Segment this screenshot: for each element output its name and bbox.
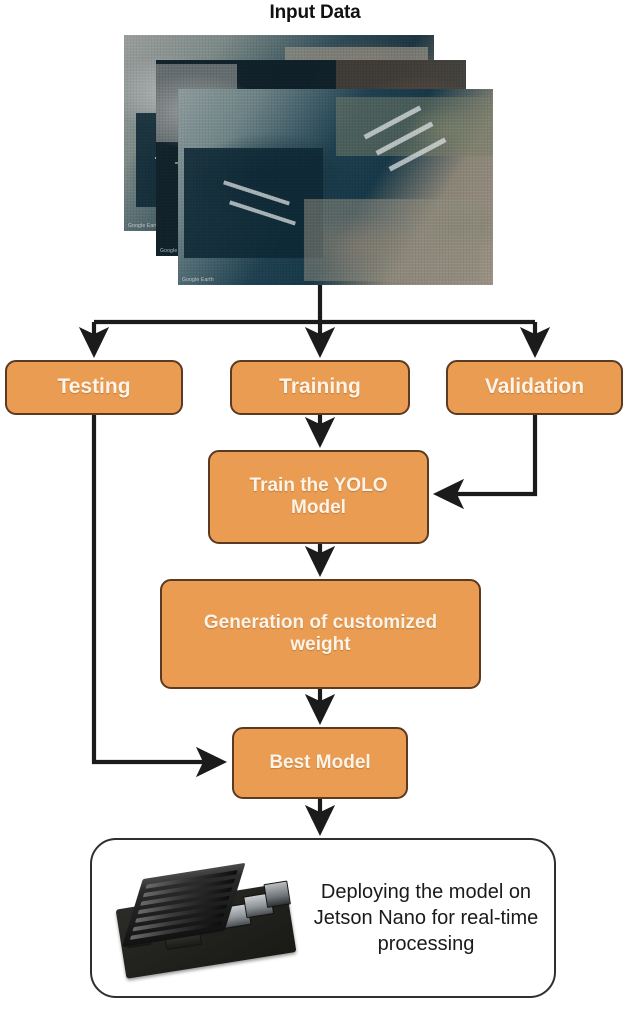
flowchart-canvas: Input Data Google Earth Google Earth: [0, 0, 630, 1009]
photo-watermark: Google Earth: [182, 277, 214, 283]
node-deploy-jetson-nano[interactable]: Deploying the model on Jetson Nano for r…: [90, 838, 556, 998]
node-validation[interactable]: Validation: [446, 360, 623, 415]
photo-grain: [178, 89, 493, 285]
node-generation-of-customized-weight[interactable]: Generation of customized weight: [160, 579, 481, 689]
board-inner: [112, 857, 297, 979]
ethernet-port: [263, 881, 290, 908]
node-testing[interactable]: Testing: [5, 360, 183, 415]
deploy-label: Deploying the model on Jetson Nano for r…: [310, 879, 554, 957]
input-data-image-stack: Google Earth Google Earth Google Earth: [118, 35, 493, 285]
page-title: Input Data: [0, 2, 630, 24]
node-train-yolo-model[interactable]: Train the YOLO Model: [208, 450, 429, 544]
jetson-nano-board-image: [100, 850, 310, 986]
input-image-3: Google Earth: [178, 89, 493, 285]
node-best-model[interactable]: Best Model: [232, 727, 408, 799]
node-training[interactable]: Training: [230, 360, 410, 415]
edge-validation-to-yolo: [438, 415, 535, 494]
